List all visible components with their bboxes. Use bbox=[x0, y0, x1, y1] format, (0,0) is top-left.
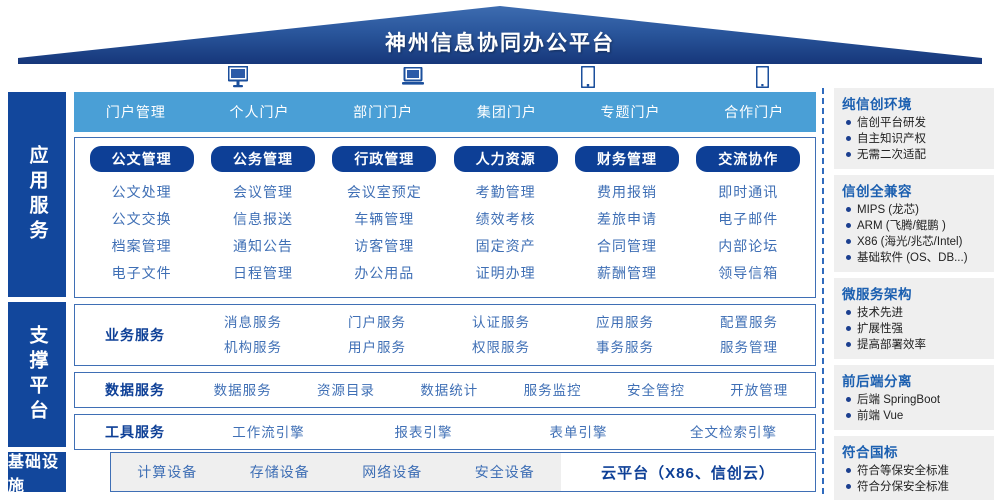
module-item[interactable]: 访客管理 bbox=[324, 233, 445, 260]
bullet-icon bbox=[846, 326, 851, 331]
infrastructure-item[interactable]: 安全设备 bbox=[449, 462, 562, 482]
vertical-dashed-divider bbox=[822, 88, 824, 494]
feature-section: 信创全兼容MIPS (龙芯)ARM (飞腾/鲲鹏 )X86 (海光/兆芯/Int… bbox=[834, 175, 994, 272]
feature-item-label: 扩展性强 bbox=[857, 321, 903, 337]
business-service-item[interactable]: 服务管理 bbox=[687, 335, 811, 360]
feature-item-label: 信创平台研发 bbox=[857, 115, 926, 131]
device-icon-row bbox=[150, 62, 850, 92]
module-item[interactable]: 差旅申请 bbox=[566, 206, 687, 233]
feature-list-item: ARM (飞腾/鲲鹏 ) bbox=[842, 218, 988, 234]
data-service-item[interactable]: 数据服务 bbox=[191, 378, 294, 403]
feature-item-label: X86 (海光/兆芯/Intel) bbox=[857, 234, 962, 250]
data-service-item[interactable]: 数据统计 bbox=[398, 378, 501, 403]
sidebar-label-support-platform: 支撑平台 bbox=[24, 325, 51, 425]
tool-service-item[interactable]: 全文检索引擎 bbox=[656, 420, 811, 445]
data-service-row: 数据服务资源目录数据统计服务监控安全管控开放管理 bbox=[191, 378, 811, 403]
feature-section: 纯信创环境信创平台研发自主知识产权无需二次适配 bbox=[834, 88, 994, 169]
tool-service-item[interactable]: 表单引擎 bbox=[501, 420, 656, 445]
feature-section-title: 微服务架构 bbox=[842, 283, 988, 303]
infrastructure-cloud-platform[interactable]: 云平台（X86、信创云） bbox=[561, 453, 815, 491]
main-diagram-column: 门户管理个人门户部门门户集团门户专题门户合作门户 公文管理公务管理行政管理人力资… bbox=[74, 92, 816, 450]
module-item[interactable]: 办公用品 bbox=[324, 260, 445, 287]
module-item[interactable]: 薪酬管理 bbox=[566, 260, 687, 287]
module-header: 交流协作 bbox=[688, 146, 809, 172]
module-header: 行政管理 bbox=[324, 146, 445, 172]
portal-item[interactable]: 门户管理 bbox=[74, 102, 198, 122]
bullet-icon bbox=[846, 255, 851, 260]
support-row-business-service: 业务服务 消息服务门户服务认证服务应用服务配置服务 机构服务用户服务权限服务事务… bbox=[74, 304, 816, 366]
laptop-icon bbox=[325, 67, 500, 87]
tool-service-row: 工作流引擎报表引擎表单引擎全文检索引擎 bbox=[191, 420, 811, 445]
feature-highlights-panel: 纯信创环境信创平台研发自主知识产权无需二次适配信创全兼容MIPS (龙芯)ARM… bbox=[834, 88, 994, 500]
module-item[interactable]: 内部论坛 bbox=[688, 233, 809, 260]
module-item[interactable]: 档案管理 bbox=[81, 233, 202, 260]
module-item[interactable]: 会议室预定 bbox=[324, 179, 445, 206]
support-label-data-service: 数据服务 bbox=[79, 380, 191, 400]
module-header-row: 公文管理公务管理行政管理人力资源财务管理交流协作 bbox=[81, 146, 809, 172]
bullet-icon bbox=[846, 152, 851, 157]
support-label-tool-service: 工具服务 bbox=[79, 422, 191, 442]
feature-list-item: 自主知识产权 bbox=[842, 131, 988, 147]
infrastructure-device-group: 计算设备存储设备网络设备安全设备 bbox=[111, 453, 561, 491]
feature-item-label: 后端 SpringBoot bbox=[857, 392, 940, 408]
business-service-item[interactable]: 消息服务 bbox=[191, 310, 315, 335]
module-item[interactable]: 车辆管理 bbox=[324, 206, 445, 233]
module-column: 公文处理公文交换档案管理电子文件 bbox=[81, 179, 202, 287]
module-item[interactable]: 固定资产 bbox=[445, 233, 566, 260]
feature-item-label: MIPS (龙芯) bbox=[857, 202, 919, 218]
feature-list-item: X86 (海光/兆芯/Intel) bbox=[842, 234, 988, 250]
feature-list-item: 提高部署效率 bbox=[842, 337, 988, 353]
bullet-icon bbox=[846, 310, 851, 315]
module-item[interactable]: 信息报送 bbox=[202, 206, 323, 233]
bullet-icon bbox=[846, 397, 851, 402]
module-item[interactable]: 通知公告 bbox=[202, 233, 323, 260]
module-header: 人力资源 bbox=[445, 146, 566, 172]
module-item[interactable]: 合同管理 bbox=[566, 233, 687, 260]
data-service-item[interactable]: 服务监控 bbox=[501, 378, 604, 403]
support-label-business-service: 业务服务 bbox=[79, 325, 191, 345]
feature-list-item: 符合等保安全标准 bbox=[842, 463, 988, 479]
sidebar-item-application-service[interactable]: 应用服务 bbox=[8, 92, 66, 297]
data-service-item[interactable]: 开放管理 bbox=[708, 378, 811, 403]
feature-item-label: ARM (飞腾/鲲鹏 ) bbox=[857, 218, 946, 234]
module-header-pill[interactable]: 交流协作 bbox=[696, 146, 800, 172]
feature-list-item: 后端 SpringBoot bbox=[842, 392, 988, 408]
feature-list-item: 技术先进 bbox=[842, 305, 988, 321]
portal-bar: 门户管理个人门户部门门户集团门户专题门户合作门户 bbox=[74, 92, 816, 132]
support-row-tool-service: 工具服务 工作流引擎报表引擎表单引擎全文检索引擎 bbox=[74, 414, 816, 450]
module-header-pill[interactable]: 人力资源 bbox=[454, 146, 558, 172]
bullet-icon bbox=[846, 120, 851, 125]
infrastructure-item[interactable]: 网络设备 bbox=[336, 462, 449, 482]
feature-section-title: 纯信创环境 bbox=[842, 93, 988, 113]
portal-item[interactable]: 集团门户 bbox=[445, 102, 569, 122]
tablet-icon bbox=[500, 66, 675, 88]
business-service-body: 消息服务门户服务认证服务应用服务配置服务 机构服务用户服务权限服务事务服务服务管… bbox=[191, 310, 811, 360]
bullet-icon bbox=[846, 239, 851, 244]
module-item[interactable]: 电子文件 bbox=[81, 260, 202, 287]
bullet-icon bbox=[846, 413, 851, 418]
feature-list-item: 前端 Vue bbox=[842, 408, 988, 424]
module-item[interactable]: 日程管理 bbox=[202, 260, 323, 287]
feature-list-item: MIPS (龙芯) bbox=[842, 202, 988, 218]
module-item[interactable]: 公文处理 bbox=[81, 179, 202, 206]
module-item[interactable]: 会议管理 bbox=[202, 179, 323, 206]
support-row-data-service: 数据服务 数据服务资源目录数据统计服务监控安全管控开放管理 bbox=[74, 372, 816, 408]
tool-service-item[interactable]: 工作流引擎 bbox=[191, 420, 346, 445]
feature-item-label: 技术先进 bbox=[857, 305, 903, 321]
bullet-icon bbox=[846, 342, 851, 347]
module-item[interactable]: 费用报销 bbox=[566, 179, 687, 206]
feature-item-label: 自主知识产权 bbox=[857, 131, 926, 147]
sidebar-label-application-service: 应用服务 bbox=[24, 145, 51, 245]
business-service-row-2: 机构服务用户服务权限服务事务服务服务管理 bbox=[191, 335, 811, 360]
feature-item-label: 提高部署效率 bbox=[857, 337, 926, 353]
module-item[interactable]: 证明办理 bbox=[445, 260, 566, 287]
feature-item-label: 无需二次适配 bbox=[857, 147, 926, 163]
business-service-item[interactable]: 认证服务 bbox=[439, 310, 563, 335]
business-service-item[interactable]: 门户服务 bbox=[315, 310, 439, 335]
business-service-item[interactable]: 应用服务 bbox=[563, 310, 687, 335]
module-item[interactable]: 电子邮件 bbox=[688, 206, 809, 233]
portal-item[interactable]: 专题门户 bbox=[569, 102, 693, 122]
bullet-icon bbox=[846, 207, 851, 212]
bullet-icon bbox=[846, 136, 851, 141]
business-service-item[interactable]: 事务服务 bbox=[563, 335, 687, 360]
platform-roof-banner: 神州信息协同办公平台 bbox=[18, 6, 982, 64]
feature-item-label: 前端 Vue bbox=[857, 408, 903, 424]
module-item[interactable]: 公文交换 bbox=[81, 206, 202, 233]
module-header: 公务管理 bbox=[202, 146, 323, 172]
architecture-diagram: 神州信息协同办公平台 bbox=[0, 0, 1000, 500]
module-header-pill[interactable]: 行政管理 bbox=[332, 146, 436, 172]
feature-section: 前后端分离后端 SpringBoot前端 Vue bbox=[834, 365, 994, 430]
infrastructure-item[interactable]: 存储设备 bbox=[224, 462, 337, 482]
module-item-grid: 公文处理公文交换档案管理电子文件会议管理信息报送通知公告日程管理会议室预定车辆管… bbox=[81, 179, 809, 287]
desktop-monitor-icon bbox=[150, 66, 325, 88]
bullet-icon bbox=[846, 223, 851, 228]
feature-section: 符合国标符合等保安全标准符合分保安全标准 bbox=[834, 436, 994, 500]
business-service-row-1: 消息服务门户服务认证服务应用服务配置服务 bbox=[191, 310, 811, 335]
module-item[interactable]: 领导信箱 bbox=[688, 260, 809, 287]
infrastructure-bar: 计算设备存储设备网络设备安全设备 云平台（X86、信创云） bbox=[110, 452, 816, 492]
portal-item[interactable]: 部门门户 bbox=[321, 102, 445, 122]
feature-item-label: 符合等保安全标准 bbox=[857, 463, 949, 479]
sidebar-item-support-platform[interactable]: 支撑平台 bbox=[8, 302, 66, 447]
module-column: 费用报销差旅申请合同管理薪酬管理 bbox=[566, 179, 687, 287]
feature-list-item: 无需二次适配 bbox=[842, 147, 988, 163]
portal-item[interactable]: 合作门户 bbox=[692, 102, 816, 122]
module-header-pill[interactable]: 财务管理 bbox=[575, 146, 679, 172]
business-service-item[interactable]: 权限服务 bbox=[439, 335, 563, 360]
module-header-pill[interactable]: 公务管理 bbox=[211, 146, 315, 172]
smartphone-icon bbox=[675, 66, 850, 88]
portal-item[interactable]: 个人门户 bbox=[198, 102, 322, 122]
feature-section-title: 信创全兼容 bbox=[842, 180, 988, 200]
business-service-item[interactable]: 机构服务 bbox=[191, 335, 315, 360]
sidebar-item-infrastructure[interactable]: 基础设施 bbox=[8, 452, 66, 492]
business-service-item[interactable]: 用户服务 bbox=[315, 335, 439, 360]
feature-list-item: 扩展性强 bbox=[842, 321, 988, 337]
module-item[interactable]: 即时通讯 bbox=[688, 179, 809, 206]
feature-item-label: 符合分保安全标准 bbox=[857, 479, 949, 495]
business-service-item[interactable]: 配置服务 bbox=[687, 310, 811, 335]
bullet-icon bbox=[846, 468, 851, 473]
feature-list-item: 符合分保安全标准 bbox=[842, 479, 988, 495]
data-service-item[interactable]: 资源目录 bbox=[294, 378, 397, 403]
bullet-icon bbox=[846, 484, 851, 489]
module-header-pill[interactable]: 公文管理 bbox=[90, 146, 194, 172]
data-service-item[interactable]: 安全管控 bbox=[604, 378, 707, 403]
feature-section-title: 符合国标 bbox=[842, 441, 988, 461]
feature-item-label: 基础软件 (OS、DB...) bbox=[857, 250, 968, 266]
module-column: 即时通讯电子邮件内部论坛领导信箱 bbox=[688, 179, 809, 287]
feature-section-title: 前后端分离 bbox=[842, 370, 988, 390]
module-column: 会议管理信息报送通知公告日程管理 bbox=[202, 179, 323, 287]
module-header: 财务管理 bbox=[566, 146, 687, 172]
module-item[interactable]: 考勤管理 bbox=[445, 179, 566, 206]
feature-list-item: 基础软件 (OS、DB...) bbox=[842, 250, 988, 266]
module-column: 考勤管理绩效考核固定资产证明办理 bbox=[445, 179, 566, 287]
tool-service-item[interactable]: 报表引擎 bbox=[346, 420, 501, 445]
module-item[interactable]: 绩效考核 bbox=[445, 206, 566, 233]
module-column: 会议室预定车辆管理访客管理办公用品 bbox=[324, 179, 445, 287]
feature-section: 微服务架构技术先进扩展性强提高部署效率 bbox=[834, 278, 994, 359]
infrastructure-item[interactable]: 计算设备 bbox=[111, 462, 224, 482]
page-title: 神州信息协同办公平台 bbox=[18, 6, 982, 64]
application-service-panel: 公文管理公务管理行政管理人力资源财务管理交流协作 公文处理公文交换档案管理电子文… bbox=[74, 137, 816, 298]
feature-list-item: 信创平台研发 bbox=[842, 115, 988, 131]
module-header: 公文管理 bbox=[81, 146, 202, 172]
sidebar-label-infrastructure: 基础设施 bbox=[8, 448, 66, 496]
